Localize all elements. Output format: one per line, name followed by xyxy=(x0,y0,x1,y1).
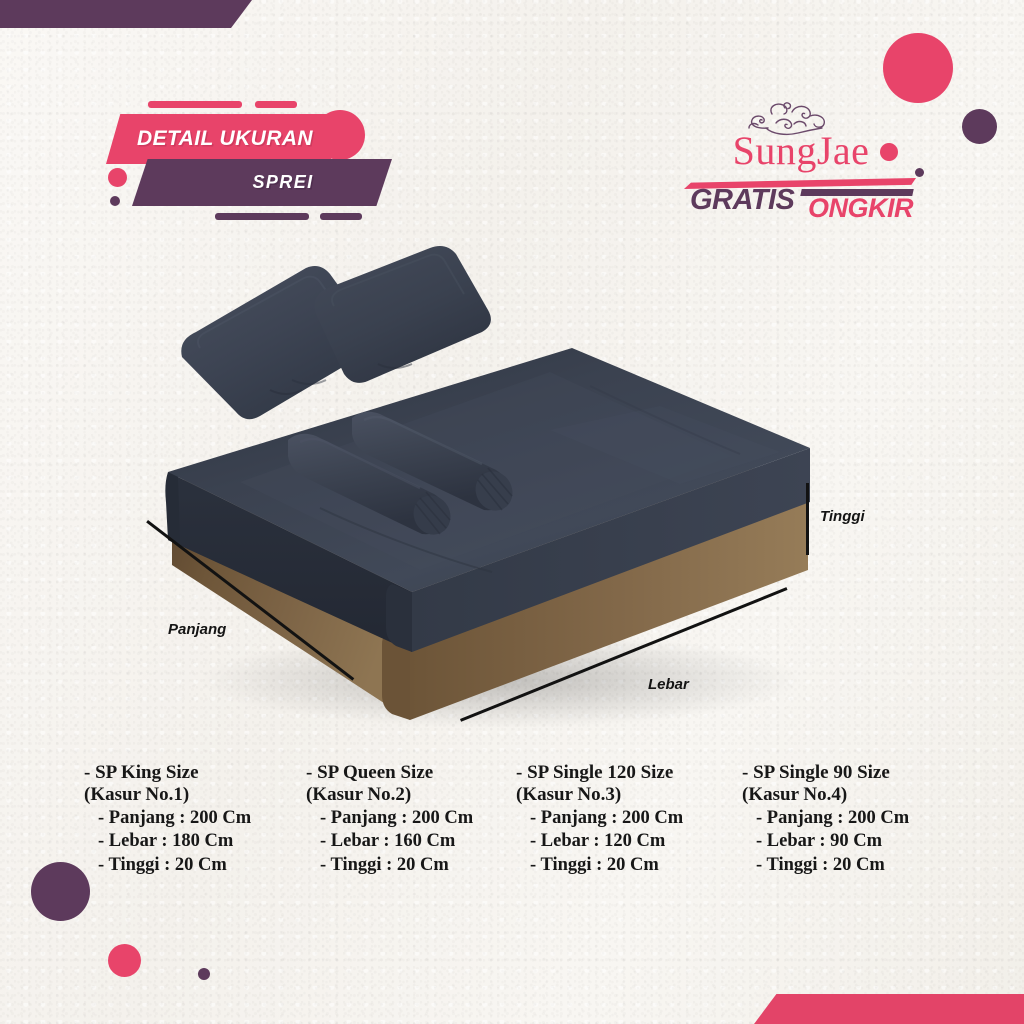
spec-subtitle: (Kasur No.3) xyxy=(516,784,742,806)
header-dash-top-long xyxy=(148,101,242,108)
title-primary-label: DETAIL UKURAN xyxy=(137,127,313,151)
spec-height: - Tinggi : 20 Cm xyxy=(516,854,742,878)
spec-column-king: - SP King Size (Kasur No.1) - Panjang : … xyxy=(84,762,306,878)
spec-subtitle: (Kasur No.2) xyxy=(306,784,516,806)
spec-height: - Tinggi : 20 Cm xyxy=(84,854,306,878)
height-label: Tinggi xyxy=(820,508,865,525)
spec-width: - Lebar : 180 Cm xyxy=(84,830,306,854)
banner-detail-ukuran: DETAIL UKURAN xyxy=(106,114,344,164)
length-label: Panjang xyxy=(168,621,226,638)
header-dash-top-short xyxy=(255,101,297,108)
spec-subtitle: (Kasur No.4) xyxy=(742,784,954,806)
spec-width: - Lebar : 90 Cm xyxy=(742,830,954,854)
brand-name: SungJae xyxy=(676,131,926,171)
bottom-right-ribbon xyxy=(754,994,1024,1024)
spec-title: - SP King Size xyxy=(84,762,306,784)
spec-title: - SP Queen Size xyxy=(306,762,516,784)
decor-dot-pink-bottom xyxy=(108,944,141,977)
brand-promo-row: GRATIS ONGKIR xyxy=(676,184,926,216)
spec-title: - SP Single 90 Size xyxy=(742,762,954,784)
brand-logo: SungJae GRATIS ONGKIR xyxy=(676,98,926,216)
header-banner-group: DETAIL UKURAN SPREI xyxy=(100,96,390,221)
promo-shipping-label: ONGKIR xyxy=(808,193,913,224)
banner-sprei: SPREI xyxy=(132,159,392,206)
spec-length: - Panjang : 200 Cm xyxy=(306,807,516,831)
spec-subtitle: (Kasur No.1) xyxy=(84,784,306,806)
decor-dot-purple-large-bottom xyxy=(31,862,90,921)
title-secondary-label: SPREI xyxy=(210,172,313,193)
promo-free-label: GRATIS xyxy=(690,184,794,217)
bed-illustration xyxy=(120,240,860,740)
spec-width: - Lebar : 120 Cm xyxy=(516,830,742,854)
spec-height: - Tinggi : 20 Cm xyxy=(306,854,516,878)
height-measure-line xyxy=(806,483,809,555)
spec-column-queen: - SP Queen Size (Kasur No.2) - Panjang :… xyxy=(306,762,516,878)
spec-width: - Lebar : 160 Cm xyxy=(306,830,516,854)
decor-dot-purple-medium xyxy=(962,109,997,144)
bed-drawing xyxy=(120,240,860,740)
decor-dot-pink-large xyxy=(883,33,953,103)
poster-canvas: DETAIL UKURAN SPREI SungJae GRAT xyxy=(0,0,1024,1024)
header-dash-bottom-short xyxy=(320,213,362,220)
spec-column-single-120: - SP Single 120 Size (Kasur No.3) - Panj… xyxy=(516,762,742,878)
spec-column-single-90: - SP Single 90 Size (Kasur No.4) - Panja… xyxy=(742,762,954,878)
header-dash-bottom-long xyxy=(215,213,309,220)
width-label: Lebar xyxy=(648,676,689,693)
spec-length: - Panjang : 200 Cm xyxy=(84,807,306,831)
spec-length: - Panjang : 200 Cm xyxy=(516,807,742,831)
spec-height: - Tinggi : 20 Cm xyxy=(742,854,954,878)
spec-title: - SP Single 120 Size xyxy=(516,762,742,784)
spec-length: - Panjang : 200 Cm xyxy=(742,807,954,831)
top-left-ribbon xyxy=(0,0,252,28)
decor-dot-purple-tiny-bottom xyxy=(198,968,210,980)
size-spec-table: - SP King Size (Kasur No.1) - Panjang : … xyxy=(84,762,954,878)
